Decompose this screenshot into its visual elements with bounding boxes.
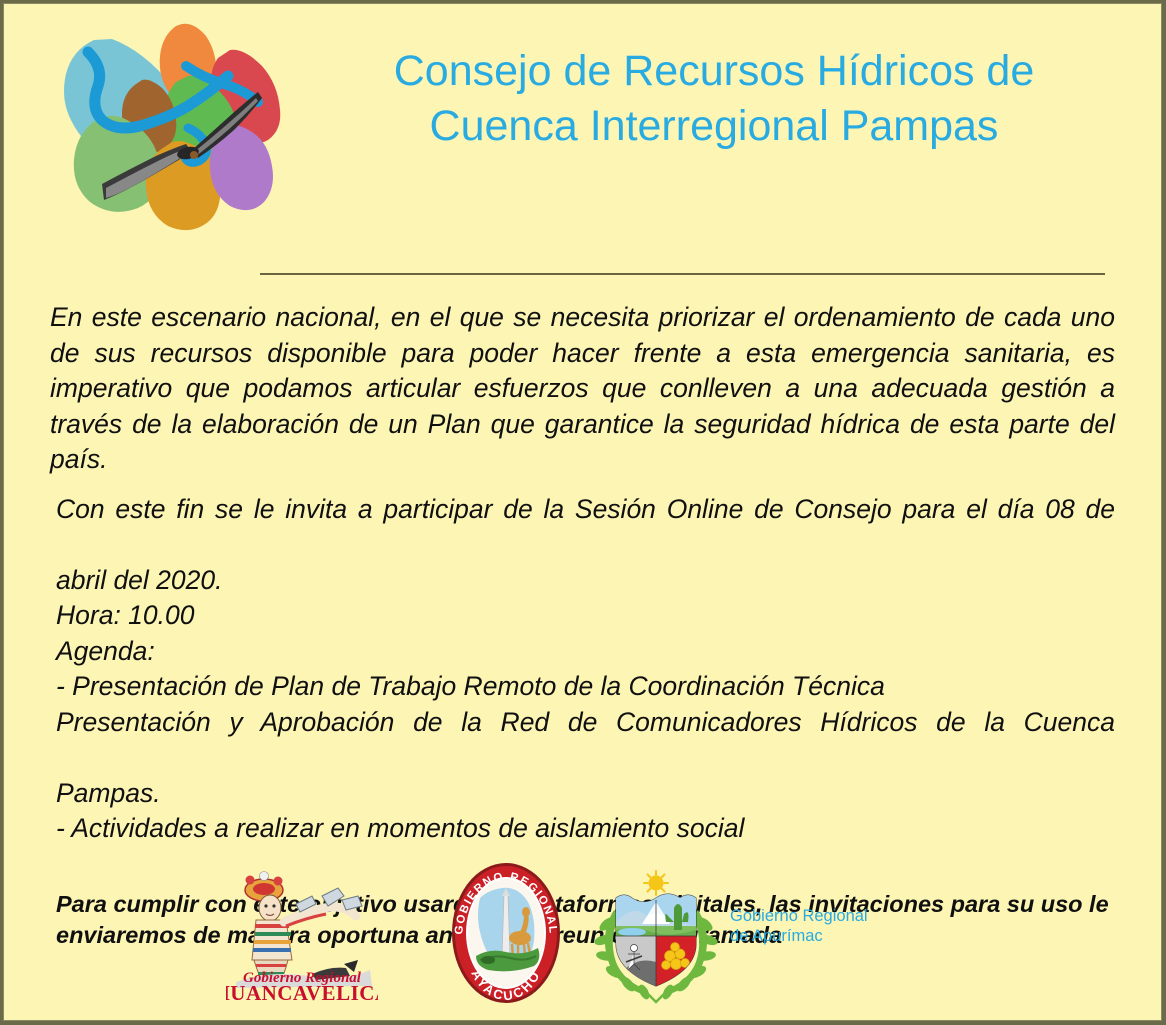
- intro-paragraph: En este escenario nacional, en el que se…: [50, 300, 1115, 478]
- apurimac-label: Gobierno Regional de Apurímac: [730, 906, 868, 946]
- gobierno-regional-huancavelica-logo: Gobierno Regional HUANCAVELICA: [226, 864, 378, 1004]
- gobierno-regional-apurimac-coat-of-arms: [590, 870, 722, 1004]
- body-content: En este escenario nacional, en el que se…: [4, 300, 1161, 951]
- agenda-item-2-line-2: Pampas.: [56, 776, 1115, 812]
- header: Consejo de Recursos Hídricos de Cuenca I…: [4, 4, 1161, 254]
- sun-icon: [644, 871, 668, 895]
- footer-logos: Gobierno Regional HUANCAVELICA: [4, 860, 1161, 1020]
- title-line-2: Cuenca Interregional Pampas: [304, 99, 1124, 154]
- agenda-item-3: - Actividades a realizar en momentos de …: [56, 811, 1115, 847]
- cuenca-pampas-condor-map-logo: [36, 22, 291, 237]
- invitation-block: Con este fin se le invita a participar d…: [56, 492, 1115, 847]
- svg-text:HUANCAVELICA: HUANCAVELICA: [226, 981, 378, 1004]
- agenda-label: Agenda:: [56, 634, 1115, 670]
- agenda-item-1: - Presentación de Plan de Trabajo Remoto…: [56, 669, 1115, 705]
- gobierno-regional-ayacucho-seal: GOBIERNO REGIONAL AYACUCHO: [450, 860, 562, 1006]
- page-title: Consejo de Recursos Hídricos de Cuenca I…: [304, 44, 1124, 154]
- agenda-item-2-line-1: Presentación y Aprobación de la Red de C…: [56, 705, 1115, 776]
- invitation-line-2: abril del 2020.: [56, 563, 1115, 599]
- invitation-line-1: Con este fin se le invita a participar d…: [56, 492, 1115, 563]
- shield: [616, 890, 696, 988]
- header-divider: [260, 273, 1105, 275]
- invitation-page: Consejo de Recursos Hídricos de Cuenca I…: [3, 3, 1162, 1021]
- title-line-1: Consejo de Recursos Hídricos de: [304, 44, 1124, 99]
- hora-line: Hora: 10.00: [56, 598, 1115, 634]
